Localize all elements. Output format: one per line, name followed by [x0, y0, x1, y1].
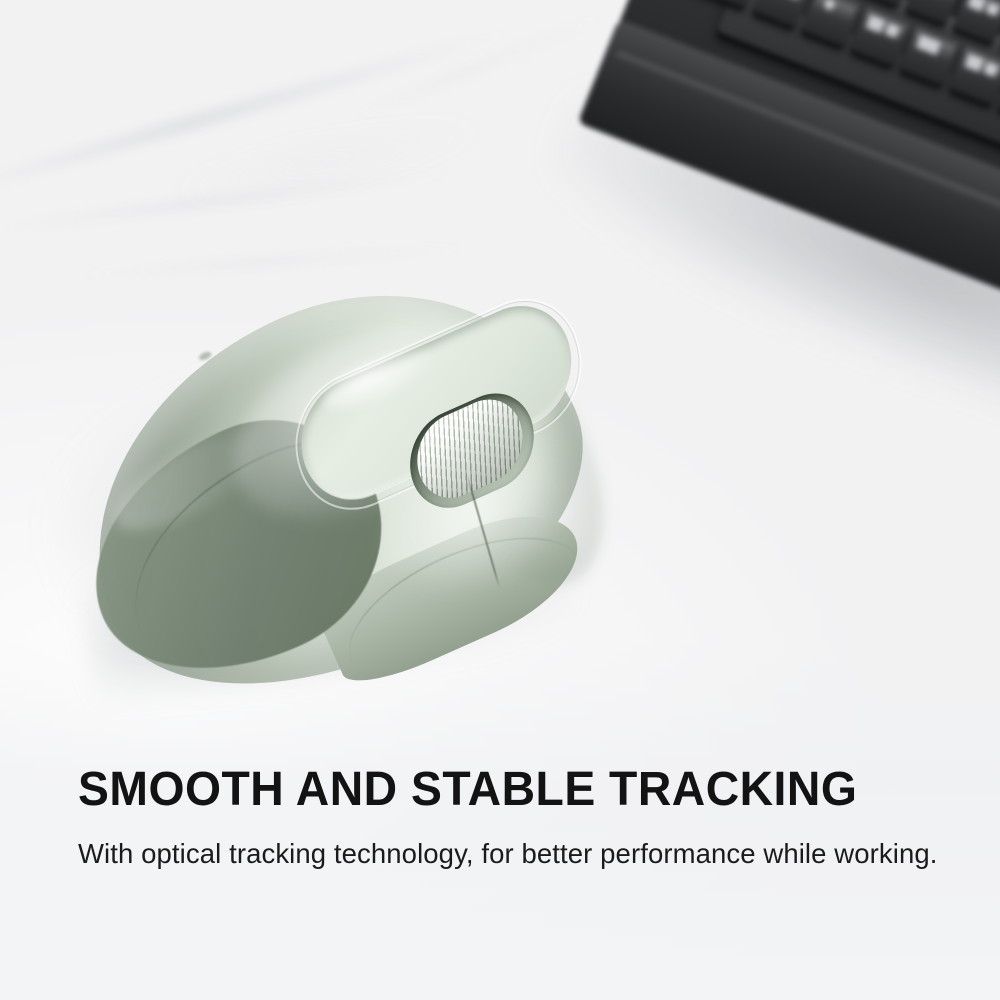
product-image-canvas: SMOOTH AND STABLE TRACKING With optical … [0, 0, 1000, 1000]
headline: SMOOTH AND STABLE TRACKING [78, 766, 927, 814]
copy-block: SMOOTH AND STABLE TRACKING With optical … [78, 766, 958, 873]
subcopy: With optical tracking technology, for be… [78, 836, 958, 873]
wireless-mouse [69, 299, 595, 687]
